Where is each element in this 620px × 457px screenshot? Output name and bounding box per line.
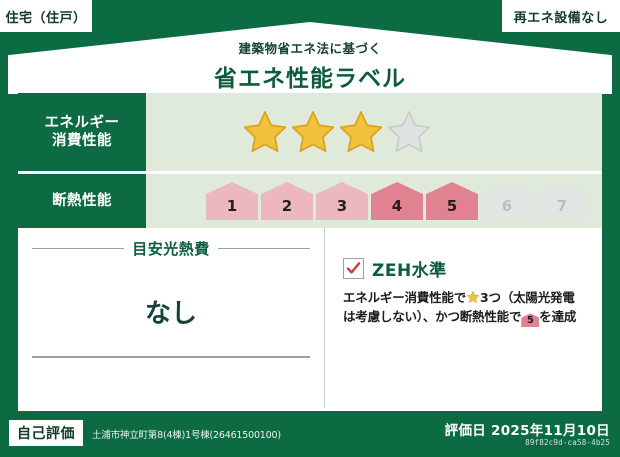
energy-performance-label: 住宅（住戸） 再エネ設備なし 建築物省エネ法に基づく 省エネ性能ラベル エネルギ… <box>0 0 620 457</box>
zeh-header: ZEH水準 <box>343 256 602 281</box>
insulation-level-2: 2 <box>261 182 313 220</box>
row-insulation-performance: 断熱性能 1234567 <box>18 174 602 228</box>
badge-building-type: 住宅（住戸） <box>0 0 95 32</box>
footer: 自己評価 土浦市神立町第8(4棟)1号棟(26461500100) 評価日 20… <box>0 411 620 457</box>
insulation-levels-zone: 1234567 <box>146 174 602 228</box>
insulation-level-5: 5 <box>426 182 478 220</box>
zeh-desc-stars: 3つ（太陽光発電 <box>480 290 575 305</box>
page-title: 省エネ性能ラベル <box>0 59 620 93</box>
label-panel: エネルギー 消費性能 断熱性能 1234567 目安光熱費 <box>18 93 602 411</box>
zeh-desc-part3: を達成 <box>539 309 576 324</box>
penta-number: 7 <box>557 197 567 215</box>
zeh-block: ZEH水準 エネルギー消費性能で3つ（太陽光発電 は考慮しない）、かつ断熱性能で… <box>324 228 602 408</box>
star-icon-small <box>466 290 480 304</box>
star-filled-icon <box>242 109 288 155</box>
document-hash: 89f82c9d-ca58-4b25 <box>525 438 610 447</box>
check-icon <box>346 261 361 276</box>
insulation-level-7: 7 <box>536 182 588 220</box>
label-energy-line1: エネルギー <box>45 114 120 132</box>
insulation-level-6: 6 <box>481 182 533 220</box>
penta-num-small: 5 <box>527 315 534 326</box>
penta-number: 3 <box>337 197 347 215</box>
insulation-level-3: 3 <box>316 182 368 220</box>
utility-cost-title: 目安光熱費 <box>132 238 210 259</box>
insulation-level-1: 1 <box>206 182 258 220</box>
utility-cost-bottom-rule <box>32 356 310 358</box>
row-energy-performance: エネルギー 消費性能 <box>18 93 602 171</box>
penta-number: 1 <box>227 197 237 215</box>
title-subtitle: 建築物省エネ法に基づく <box>0 38 620 57</box>
self-evaluation-badge: 自己評価 <box>9 420 83 446</box>
star-filled-icon <box>290 109 336 155</box>
property-address: 土浦市神立町第8(4棟)1号棟(26461500100) <box>92 427 281 441</box>
zeh-desc-part1: エネルギー消費性能で <box>343 290 466 305</box>
zeh-desc-part2: は考慮しない）、かつ断熱性能で <box>343 309 521 324</box>
lower-section: 目安光熱費 なし ZEH水準 エネルギー消費性能で3つ（太陽光発電 <box>18 228 602 408</box>
zeh-title: ZEH水準 <box>372 256 447 281</box>
energy-stars-zone <box>146 93 602 171</box>
penta-number: 6 <box>502 197 512 215</box>
penta-number: 2 <box>282 197 292 215</box>
star-filled-icon <box>338 109 384 155</box>
label-energy-line2: 消費性能 <box>52 132 112 150</box>
label-insulation-performance: 断熱性能 <box>18 174 146 228</box>
evaluation-date: 評価日 2025年11月10日 <box>445 419 610 439</box>
insulation-badge-small: 5 <box>521 313 539 327</box>
star-rating <box>242 109 432 155</box>
title-block: 建築物省エネ法に基づく 省エネ性能ラベル <box>0 38 620 93</box>
rule-right <box>218 248 310 249</box>
insulation-level-4: 4 <box>371 182 423 220</box>
penta-number: 5 <box>447 197 457 215</box>
utility-cost-block: 目安光熱費 なし <box>18 228 324 408</box>
label-insulation-text: 断熱性能 <box>52 192 112 210</box>
label-energy-performance: エネルギー 消費性能 <box>18 93 146 171</box>
rule-left <box>32 248 124 249</box>
badge-renewable-equipment: 再エネ設備なし <box>499 0 620 32</box>
checkbox-zeh[interactable] <box>343 258 364 279</box>
penta-number: 4 <box>392 197 402 215</box>
star-empty-icon <box>386 109 432 155</box>
utility-cost-value: なし <box>18 293 324 330</box>
utility-cost-header: 目安光熱費 <box>18 238 324 259</box>
insulation-level-scale: 1234567 <box>206 182 588 220</box>
zeh-description: エネルギー消費性能で3つ（太陽光発電 は考慮しない）、かつ断熱性能で5を達成 <box>343 288 602 327</box>
